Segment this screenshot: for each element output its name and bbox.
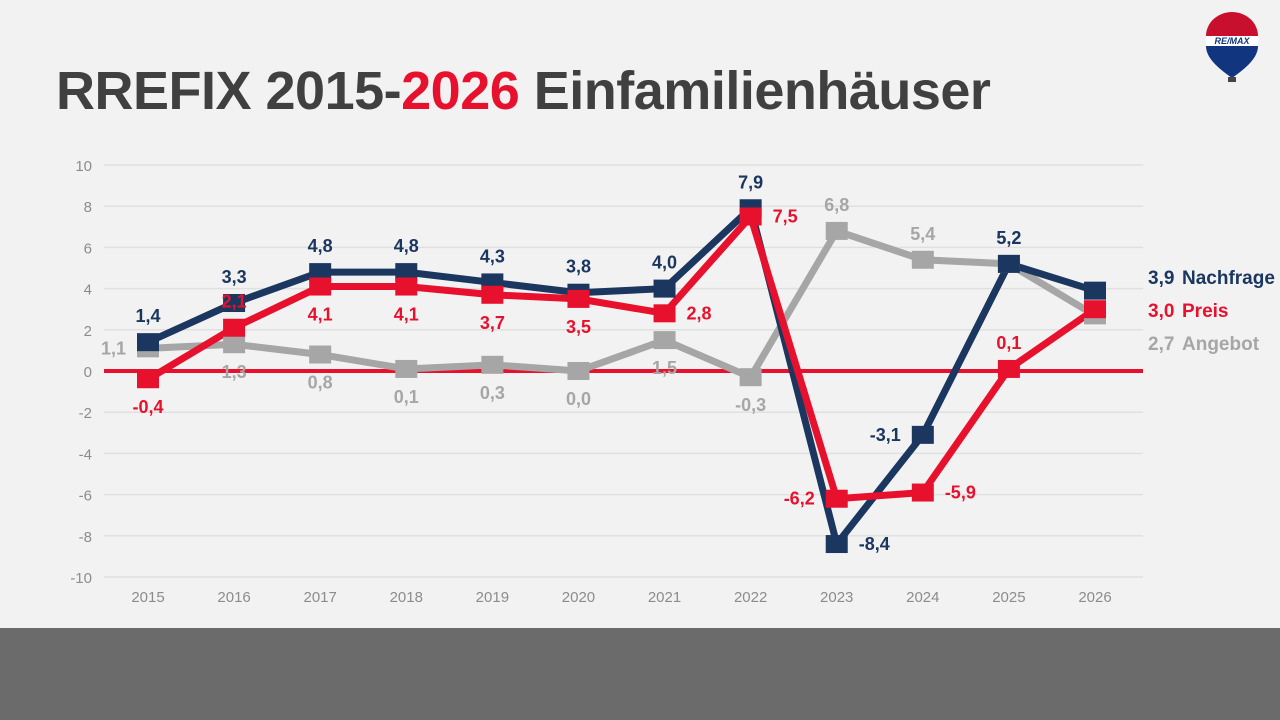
data-label-preis: 7,5: [773, 207, 798, 227]
data-label-preis: 4,1: [394, 305, 419, 325]
data-marker: [567, 362, 589, 380]
data-label-angebot: 0,0: [566, 389, 591, 409]
data-label-preis: 2,8: [687, 303, 712, 323]
data-marker: [395, 360, 417, 378]
data-marker: [481, 286, 503, 304]
data-label-preis: -5,9: [945, 483, 976, 503]
y-tick-label: -8: [79, 529, 92, 546]
data-label-angebot: 6,8: [824, 195, 849, 215]
data-label-nachfrage: 3,8: [566, 257, 591, 277]
data-label-nachfrage: 4,0: [652, 253, 677, 273]
data-marker: [826, 535, 848, 553]
data-label-nachfrage: 1,4: [135, 306, 160, 326]
data-marker: [567, 290, 589, 308]
legend-label-nachfrage: Nachfrage: [1182, 268, 1275, 289]
data-label-angebot: 1,3: [222, 362, 247, 382]
data-marker: [654, 304, 676, 322]
legend-value-angebot: 2,7: [1148, 328, 1182, 361]
data-marker: [481, 356, 503, 374]
data-marker: [998, 360, 1020, 378]
y-tick-label: 0: [84, 364, 92, 381]
data-label-angebot: 0,3: [480, 383, 505, 403]
y-tick-label: 6: [84, 240, 92, 257]
data-marker: [654, 331, 676, 349]
y-tick-label: 2: [84, 323, 92, 340]
data-marker: [912, 251, 934, 269]
data-label-preis: -0,4: [132, 397, 163, 417]
data-marker: [1084, 282, 1106, 300]
data-label-nachfrage: 4,8: [394, 236, 419, 256]
data-label-nachfrage: -3,1: [870, 425, 901, 445]
x-tick-label: 2023: [820, 589, 853, 606]
legend-label-preis: Preis: [1182, 301, 1228, 322]
data-marker: [1084, 300, 1106, 318]
data-label-preis: 4,1: [308, 305, 333, 325]
x-tick-label: 2017: [303, 589, 336, 606]
data-marker: [223, 335, 245, 353]
data-marker: [740, 368, 762, 386]
data-marker: [137, 370, 159, 388]
y-tick-label: -10: [70, 570, 92, 587]
data-label-preis: 2,1: [222, 292, 247, 312]
data-label-nachfrage: 3,3: [222, 267, 247, 287]
chart-legend: 3,9Nachfrage 3,0Preis 2,7Angebot: [1148, 262, 1280, 361]
x-tick-label: 2019: [476, 589, 509, 606]
y-axis-tick-labels: 1086420-2-4-6-8-10: [70, 158, 92, 587]
data-label-nachfrage: 4,8: [308, 236, 333, 256]
legend-item-nachfrage: 3,9Nachfrage: [1148, 262, 1280, 295]
data-label-angebot: 1,5: [652, 358, 677, 378]
y-tick-label: -6: [79, 488, 92, 505]
data-marker: [912, 426, 934, 444]
data-marker: [309, 346, 331, 364]
data-label-angebot: 0,1: [394, 387, 419, 407]
x-tick-label: 2022: [734, 589, 767, 606]
y-tick-label: 10: [75, 158, 92, 175]
data-marker: [826, 222, 848, 240]
x-tick-label: 2016: [217, 589, 250, 606]
data-marker: [223, 319, 245, 337]
data-label-nachfrage: 5,2: [996, 228, 1021, 248]
data-marker: [826, 490, 848, 508]
legend-item-preis: 3,0Preis: [1148, 295, 1280, 328]
data-label-preis: 0,1: [996, 333, 1021, 353]
y-tick-label: -2: [79, 405, 92, 422]
data-label-angebot: 1,1: [101, 338, 126, 358]
data-label-angebot: 0,8: [308, 373, 333, 393]
legend-label-angebot: Angebot: [1182, 334, 1259, 355]
data-marker: [137, 333, 159, 351]
rrefix-line-chart: 1086420-2-4-6-8-10 1,11,30,80,10,30,01,5…: [0, 0, 1280, 720]
data-marker: [998, 255, 1020, 273]
data-marker: [654, 280, 676, 298]
data-label-preis: -6,2: [784, 489, 815, 509]
x-tick-label: 2026: [1078, 589, 1111, 606]
data-marker: [309, 278, 331, 296]
x-tick-label: 2018: [390, 589, 423, 606]
legend-item-angebot: 2,7Angebot: [1148, 328, 1280, 361]
x-tick-label: 2025: [992, 589, 1025, 606]
x-axis-tick-labels: 2015201620172018201920202021202220232024…: [131, 589, 1111, 606]
data-label-angebot: 5,4: [910, 224, 935, 244]
legend-value-nachfrage: 3,9: [1148, 262, 1182, 295]
data-marker: [912, 484, 934, 502]
data-label-angebot: -0,3: [735, 395, 766, 415]
data-marker: [395, 278, 417, 296]
slide-root: RE/MAX RREFIX 2015-2026 Einfamilienhäuse…: [0, 0, 1280, 720]
data-label-nachfrage: 7,9: [738, 172, 763, 192]
y-tick-label: 8: [84, 199, 92, 216]
footer-bar: RE/MAX erwartete Änderung in %: [0, 628, 1280, 720]
data-label-nachfrage: 4,3: [480, 246, 505, 266]
legend-value-preis: 3,0: [1148, 295, 1182, 328]
y-tick-label: -4: [79, 446, 92, 463]
x-tick-label: 2021: [648, 589, 681, 606]
x-tick-label: 2020: [562, 589, 595, 606]
x-tick-label: 2024: [906, 589, 939, 606]
y-tick-label: 4: [84, 282, 92, 299]
data-label-preis: 3,7: [480, 313, 505, 333]
data-label-nachfrage: -8,4: [859, 534, 890, 554]
x-tick-label: 2015: [131, 589, 164, 606]
data-label-preis: 3,5: [566, 317, 591, 337]
data-marker: [740, 208, 762, 226]
